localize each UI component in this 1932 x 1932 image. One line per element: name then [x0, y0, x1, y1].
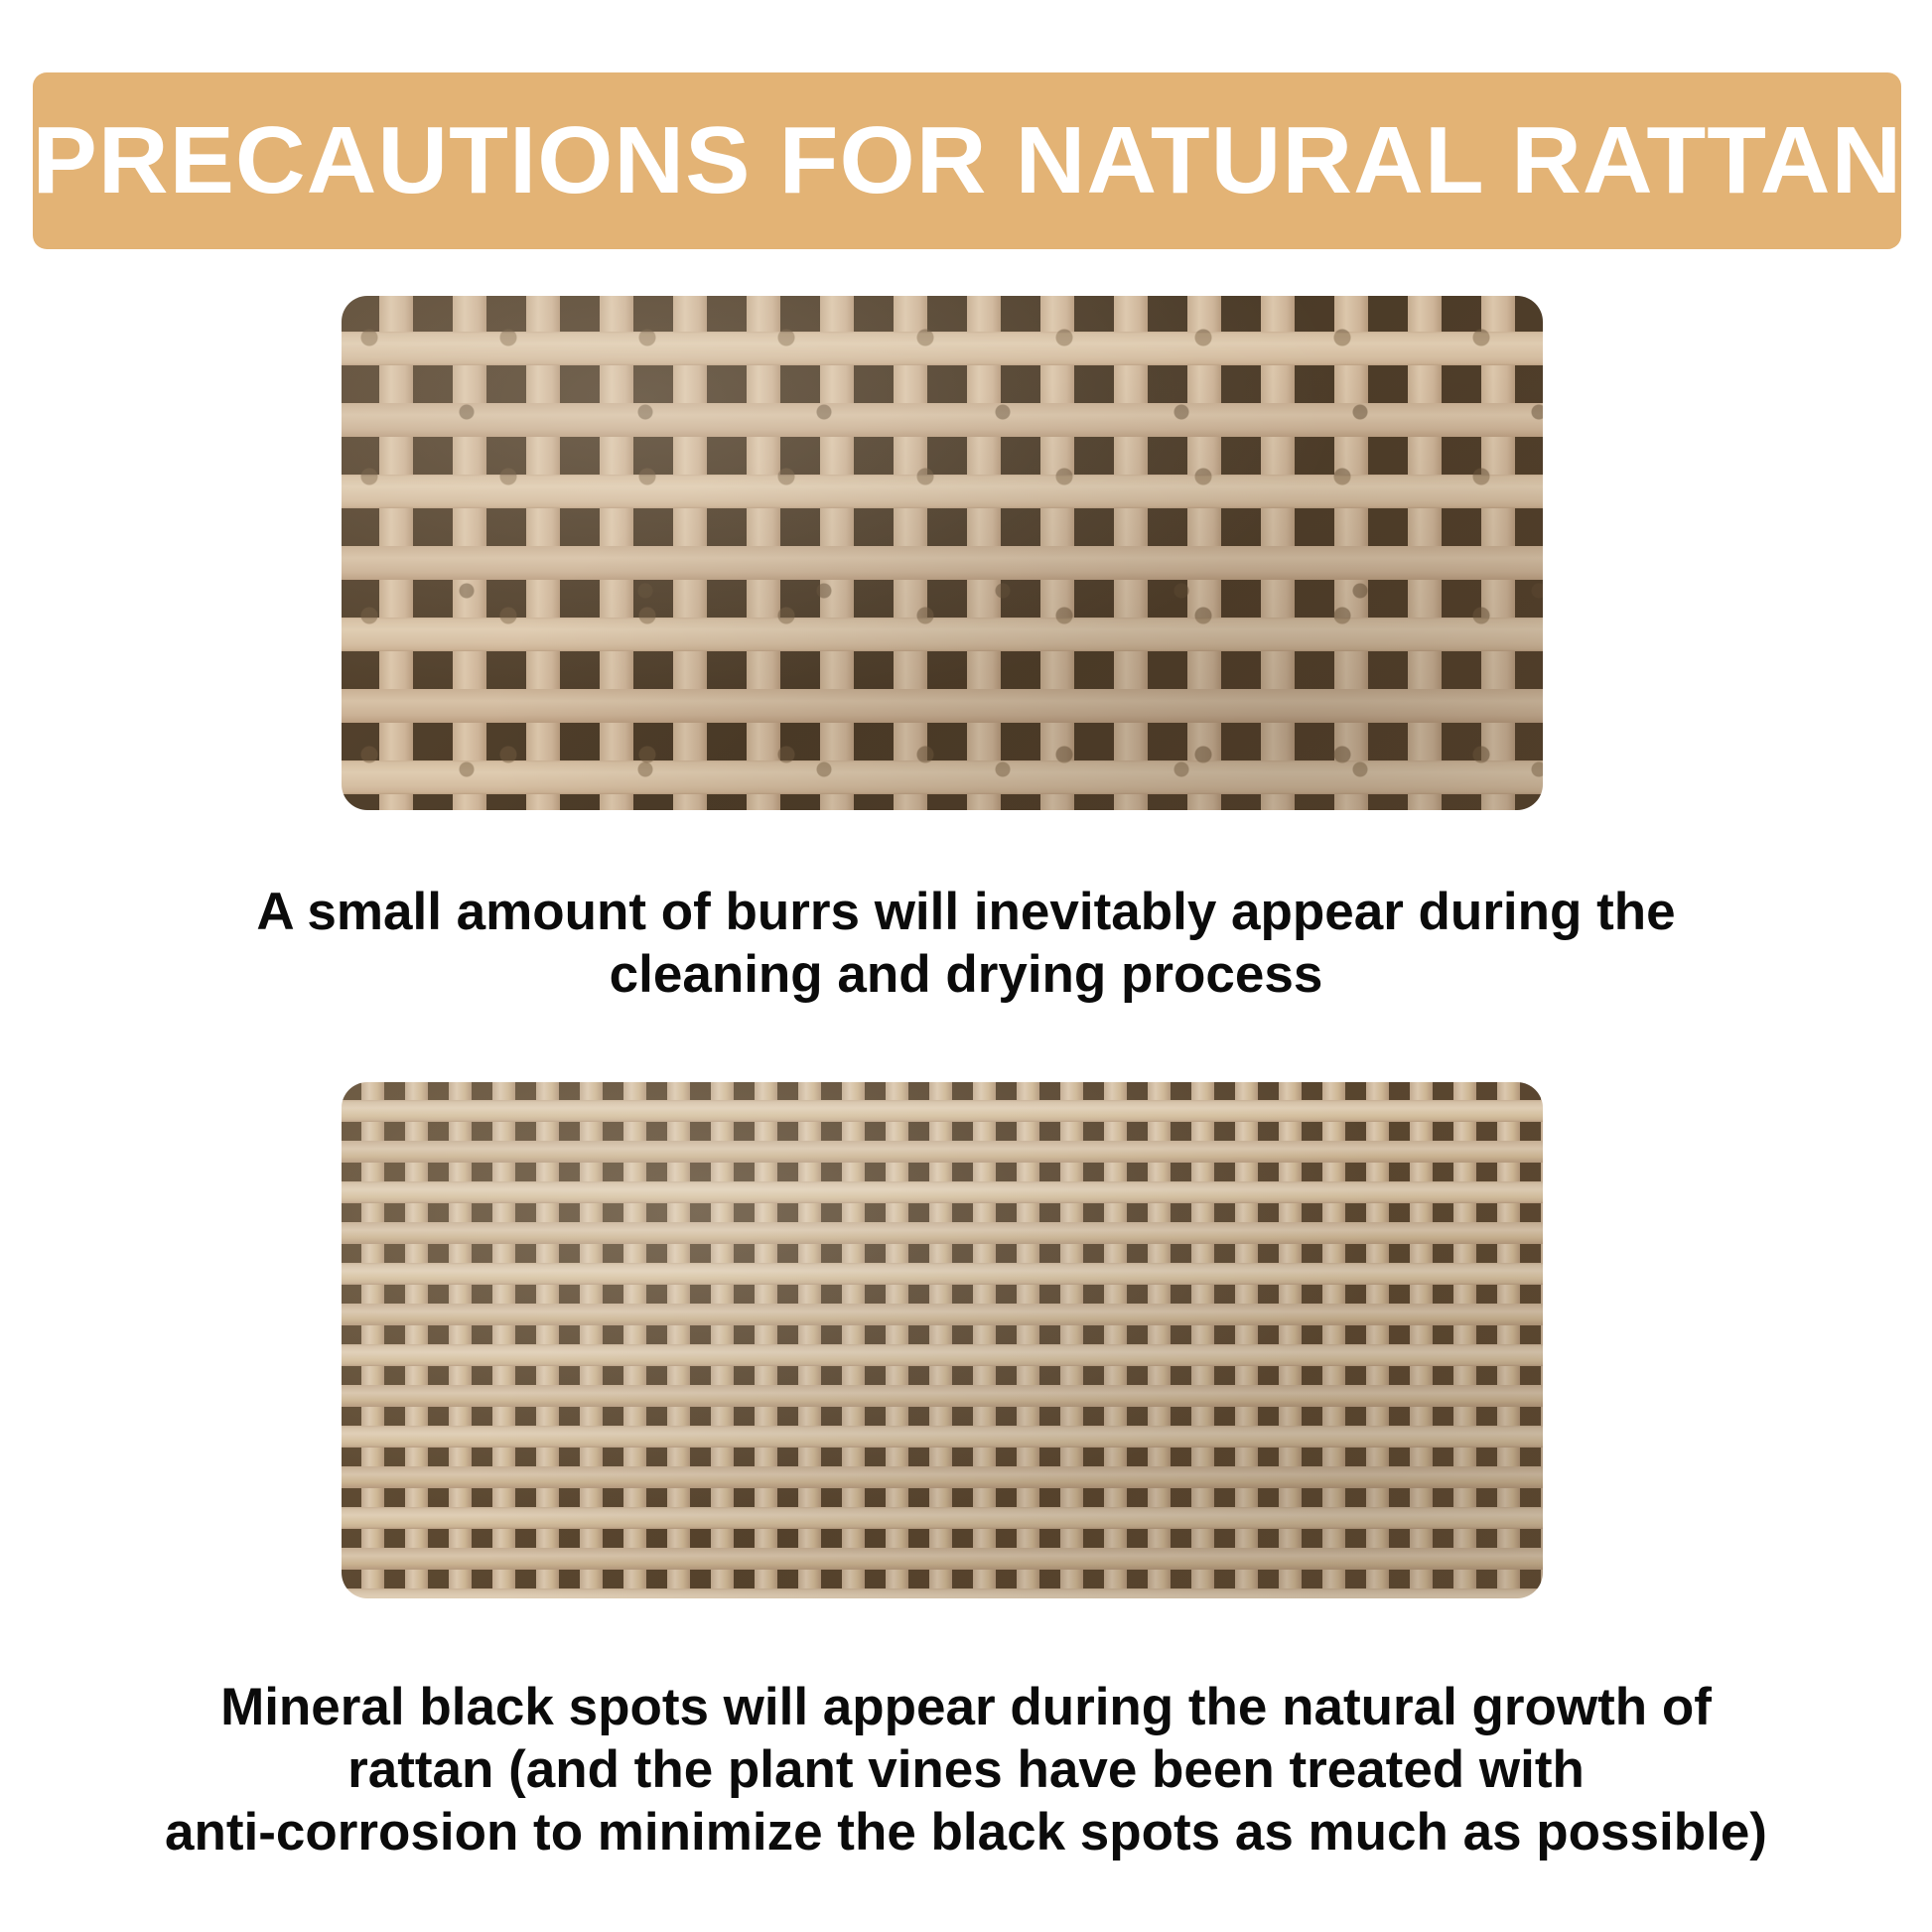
caption-burrs-line-2: cleaning and drying process	[169, 944, 1763, 1007]
caption-burrs-line-1: A small amount of burrs will inevitably …	[169, 882, 1763, 944]
caption-black-spots-line-3: anti-corrosion to minimize the black spo…	[139, 1801, 1793, 1863]
rattan-coarse-basketweave-photo	[342, 296, 1543, 810]
caption-black-spots-line-1: Mineral black spots will appear during t…	[139, 1676, 1793, 1738]
caption-black-spots: Mineral black spots will appear during t…	[0, 1676, 1932, 1863]
page-title: PRECAUTIONS FOR NATURAL RATTAN	[32, 113, 1902, 208]
rattan-fine-gridweave-photo	[342, 1082, 1543, 1598]
header-banner: PRECAUTIONS FOR NATURAL RATTAN	[33, 72, 1901, 249]
caption-burrs: A small amount of burrs will inevitably …	[0, 882, 1932, 1006]
caption-black-spots-line-2: rattan (and the plant vines have been tr…	[139, 1738, 1793, 1801]
